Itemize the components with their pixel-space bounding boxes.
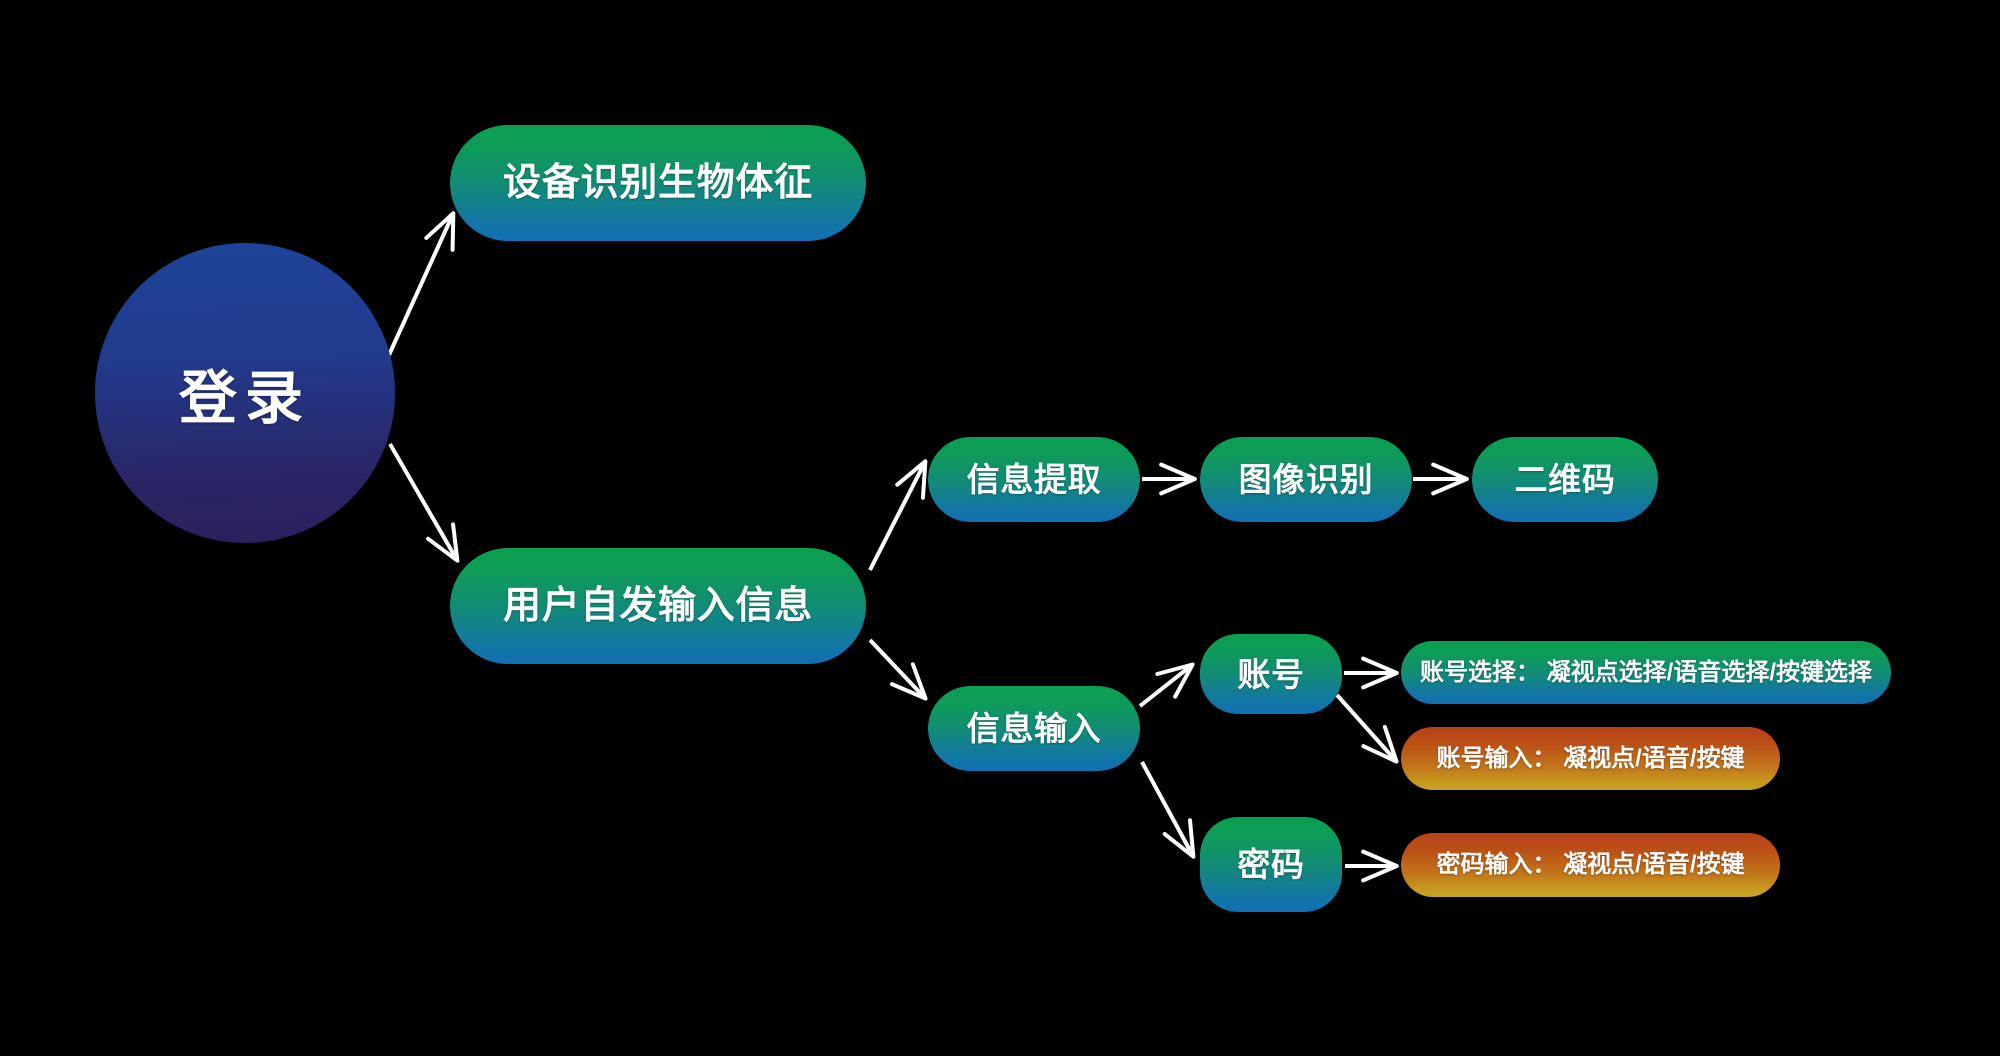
edge-user-input-info-extract xyxy=(870,462,925,570)
node-password[interactable]: 密码 xyxy=(1200,817,1342,912)
node-login-root[interactable]: 登录 xyxy=(95,243,395,543)
edge-info-entry-account xyxy=(1140,665,1192,706)
edge-info-entry-password xyxy=(1142,762,1193,856)
node-info-extract-label: 信息提取 xyxy=(967,463,1102,496)
node-info-extract[interactable]: 信息提取 xyxy=(928,437,1140,522)
node-biometric-label: 设备识别生物体征 xyxy=(503,164,813,202)
node-account-entry-label: 账号输入： 凝视点/语音/按键 xyxy=(1436,747,1744,771)
node-account[interactable]: 账号 xyxy=(1200,634,1342,714)
node-biometric[interactable]: 设备识别生物体征 xyxy=(450,125,866,241)
node-image-recognition[interactable]: 图像识别 xyxy=(1200,437,1412,522)
node-password-entry[interactable]: 密码输入： 凝视点/语音/按键 xyxy=(1401,833,1780,897)
node-image-recognition-label: 图像识别 xyxy=(1239,463,1374,496)
edge-root-biometric xyxy=(389,214,453,355)
node-user-input-label: 用户自发输入信息 xyxy=(503,587,813,625)
node-login-root-label: 登录 xyxy=(179,351,311,435)
node-account-select-label: 账号选择： 凝视点选择/语音选择/按键选择 xyxy=(1420,661,1872,685)
node-account-entry[interactable]: 账号输入： 凝视点/语音/按键 xyxy=(1401,727,1780,790)
node-info-entry-label: 信息输入 xyxy=(967,712,1102,745)
node-qr-code[interactable]: 二维码 xyxy=(1472,437,1658,522)
node-password-label: 密码 xyxy=(1237,848,1304,881)
node-password-entry-label: 密码输入： 凝视点/语音/按键 xyxy=(1436,853,1744,877)
edge-root-user-input xyxy=(390,444,457,560)
edge-user-input-info-entry xyxy=(870,640,925,698)
node-info-entry[interactable]: 信息输入 xyxy=(928,686,1140,771)
edge-account-account-entry xyxy=(1337,695,1396,761)
diagram-canvas: 登录 设备识别生物体征 用户自发输入信息 信息提取 图像识别 二维码 信息输入 … xyxy=(0,0,2000,1056)
node-qr-code-label: 二维码 xyxy=(1515,463,1616,496)
node-account-select[interactable]: 账号选择： 凝视点选择/语音选择/按键选择 xyxy=(1401,641,1891,704)
node-user-input[interactable]: 用户自发输入信息 xyxy=(450,548,866,664)
node-account-label: 账号 xyxy=(1237,658,1304,691)
